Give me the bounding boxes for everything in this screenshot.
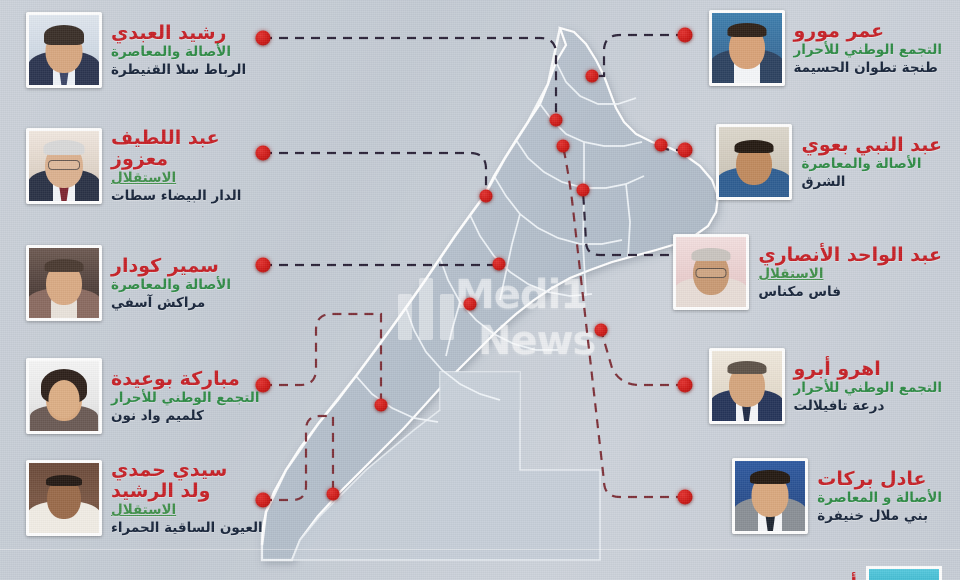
avatar: [709, 348, 785, 424]
map-marker-marrakech-safi[interactable]: [464, 298, 477, 311]
map-marker-fes-meknes[interactable]: [577, 184, 590, 197]
person-card-partial[interactable]: أ: [850, 566, 942, 580]
person-card-oriental[interactable]: عبد النبي بعوي الأصالة والمعاصرة الشرق: [716, 124, 942, 200]
endpoint-dot-casablanca[interactable]: [256, 146, 271, 161]
map-marker-oriental[interactable]: [655, 139, 668, 152]
person-name: سمير كودار: [111, 256, 219, 277]
person-card-benimellal[interactable]: عادل بركات الأصالة و المعاصرة بني ملال خ…: [732, 458, 942, 534]
person-name: عادل بركات: [817, 469, 926, 490]
avatar: [26, 245, 102, 321]
map-marker-guelmim-oued-noun[interactable]: [375, 399, 388, 412]
person-region: طنجة تطوان الحسيمة: [794, 61, 938, 76]
person-card-tanger[interactable]: عمر مورو التجمع الوطني للأحرار طنجة تطوا…: [709, 10, 943, 86]
person-name: عبد اللطيف معزوز: [111, 128, 220, 169]
person-party: التجمع الوطني للأحرار: [111, 391, 260, 406]
map-marker-beni-mellal-khenifra[interactable]: [557, 140, 570, 153]
person-card-draa[interactable]: اهرو أبرو التجمع الوطني للأحرار درعة تاف…: [709, 348, 943, 424]
avatar: [26, 358, 102, 434]
bottom-divider: [0, 549, 960, 550]
avatar: [716, 124, 792, 200]
endpoint-dot-tanger[interactable]: [678, 28, 693, 43]
endpoint-dot-benimellal[interactable]: [678, 490, 693, 505]
person-name-partial: أ: [850, 574, 857, 580]
person-party: الأصالة و المعاصرة: [817, 491, 942, 506]
endpoint-dot-draa[interactable]: [678, 378, 693, 393]
person-name: اهرو أبرو: [794, 359, 881, 380]
person-card-marrakech[interactable]: سمير كودار الأصالة والمعاصرة مراكش آسفي: [26, 245, 231, 321]
map-marker-casablanca-settat[interactable]: [480, 190, 493, 203]
endpoint-dot-marrakech[interactable]: [256, 258, 271, 273]
person-region: الدار البيضاء سطات: [111, 189, 241, 204]
map-marker-tanger-tetouan-alhoceima[interactable]: [586, 70, 599, 83]
person-card-fes[interactable]: عبد الواحد الأنصاري الاستقلال فاس مكناس: [673, 234, 942, 310]
endpoint-dot-oriental[interactable]: [678, 143, 693, 158]
infographic-canvas: Medi1 News: [0, 0, 960, 580]
person-name: رشيد العبدي: [111, 23, 226, 44]
map-marker-laayoune-saguia[interactable]: [327, 488, 340, 501]
avatar: [673, 234, 749, 310]
person-party: الاستقلال: [111, 171, 176, 186]
person-party: الاستقلال: [758, 267, 823, 282]
person-name: عبد النبي بعوي: [801, 135, 942, 156]
person-region: فاس مكناس: [758, 285, 841, 300]
avatar-partial: [866, 566, 942, 580]
person-party: الأصالة والمعاصرة: [111, 278, 231, 293]
person-region: مراكش آسفي: [111, 296, 205, 311]
avatar: [26, 128, 102, 204]
avatar: [732, 458, 808, 534]
map-marker-draa-tafilalet[interactable]: [595, 324, 608, 337]
person-name: عمر مورو: [794, 21, 885, 42]
person-name: سيدي حمدي ولد الرشيد: [111, 460, 227, 501]
person-region: الرباط سلا القنيطرة: [111, 63, 246, 78]
person-card-laayoune[interactable]: سيدي حمدي ولد الرشيد الاستقلال العيون ال…: [26, 460, 263, 536]
map-marker-rabat-north[interactable]: [550, 114, 563, 127]
person-region: الشرق: [801, 175, 845, 190]
person-card-casablanca[interactable]: عبد اللطيف معزوز الاستقلال الدار البيضاء…: [26, 128, 241, 204]
avatar: [709, 10, 785, 86]
person-name: مباركة بوعيدة: [111, 369, 240, 390]
person-party: الأصالة والمعاصرة: [801, 157, 921, 172]
avatar: [26, 12, 102, 88]
person-region: العيون الساقية الحمراء: [111, 521, 263, 536]
map-marker-rabat-sale-kenitra[interactable]: [493, 258, 506, 271]
person-party: التجمع الوطني للأحرار: [794, 381, 943, 396]
person-region: كلميم واد نون: [111, 409, 204, 424]
person-region: بني ملال خنيفرة: [817, 509, 928, 524]
person-party: الاستقلال: [111, 503, 176, 518]
person-name: عبد الواحد الأنصاري: [758, 245, 942, 266]
person-party: التجمع الوطني للأحرار: [794, 43, 943, 58]
person-party: الأصالة والمعاصرة: [111, 45, 231, 60]
avatar: [26, 460, 102, 536]
endpoint-dot-rabat[interactable]: [256, 31, 271, 46]
person-card-guelmim[interactable]: مباركة بوعيدة التجمع الوطني للأحرار كلمي…: [26, 358, 260, 434]
person-card-rabat[interactable]: رشيد العبدي الأصالة والمعاصرة الرباط سلا…: [26, 12, 246, 88]
person-region: درعة تافيلالت: [794, 399, 885, 414]
